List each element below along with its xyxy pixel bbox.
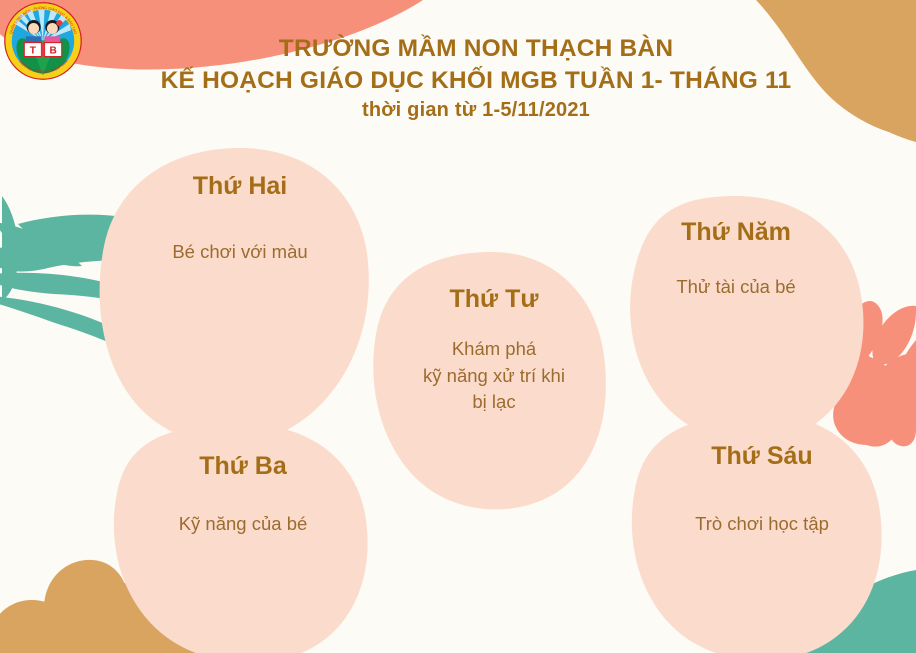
day-card-monday: Thứ Hai Bé chơi với màu: [105, 172, 375, 266]
logo-child-left-face: [28, 23, 39, 34]
day-activity-wednesday-line3: bị lạc: [380, 389, 608, 416]
day-title-wednesday: Thứ Tư: [380, 285, 608, 314]
day-card-tuesday: Thứ Ba Kỹ năng của bé: [110, 452, 376, 538]
day-title-tuesday: Thứ Ba: [110, 452, 376, 481]
day-card-thursday: Thứ Năm Thử tài của bé: [605, 218, 867, 301]
day-title-monday: Thứ Hai: [105, 172, 375, 201]
logo-child-right-face: [47, 23, 58, 34]
logo-book-spine: [41, 43, 44, 57]
poster-canvas: T B QUẬN LONG BIÊN - PHÒNG GIÁO DỤC & ĐÀ…: [0, 0, 916, 653]
logo-book-letter-t: T: [30, 45, 37, 56]
day-card-wednesday: Thứ Tư Khám phá kỹ năng xử trí khi bị lạ…: [380, 285, 608, 416]
day-activity-wednesday-line1: Khám phá: [380, 336, 608, 363]
day-activity-wednesday-line2: kỹ năng xử trí khi: [380, 363, 608, 390]
header-school-name: TRƯỜNG MẦM NON THẠCH BÀN: [96, 33, 856, 65]
header-plan-title: KẾ HOẠCH GIÁO DỤC KHỐI MGB TUẦN 1- THÁNG…: [96, 65, 856, 97]
day-card-friday: Thứ Sáu Trò chơi học tập: [628, 442, 896, 538]
school-logo: T B QUẬN LONG BIÊN - PHÒNG GIÁO DỤC & ĐÀ…: [4, 2, 82, 80]
header-date-range: thời gian từ 1-5/11/2021: [96, 97, 856, 123]
day-activity-monday: Bé chơi với màu: [105, 239, 375, 266]
day-activity-friday: Trò chơi học tập: [628, 511, 896, 538]
logo-book-letter-b: B: [49, 45, 56, 56]
logo-child-right-bow: [56, 20, 62, 26]
day-title-friday: Thứ Sáu: [628, 442, 896, 471]
poster-header: TRƯỜNG MẦM NON THẠCH BÀN KẾ HOẠCH GIÁO D…: [96, 33, 856, 123]
day-activity-thursday: Thử tài của bé: [605, 274, 867, 301]
day-title-thursday: Thứ Năm: [605, 218, 867, 247]
day-activity-tuesday: Kỹ năng của bé: [110, 511, 376, 538]
day-activity-wednesday: Khám phá kỹ năng xử trí khi bị lạc: [380, 336, 608, 416]
